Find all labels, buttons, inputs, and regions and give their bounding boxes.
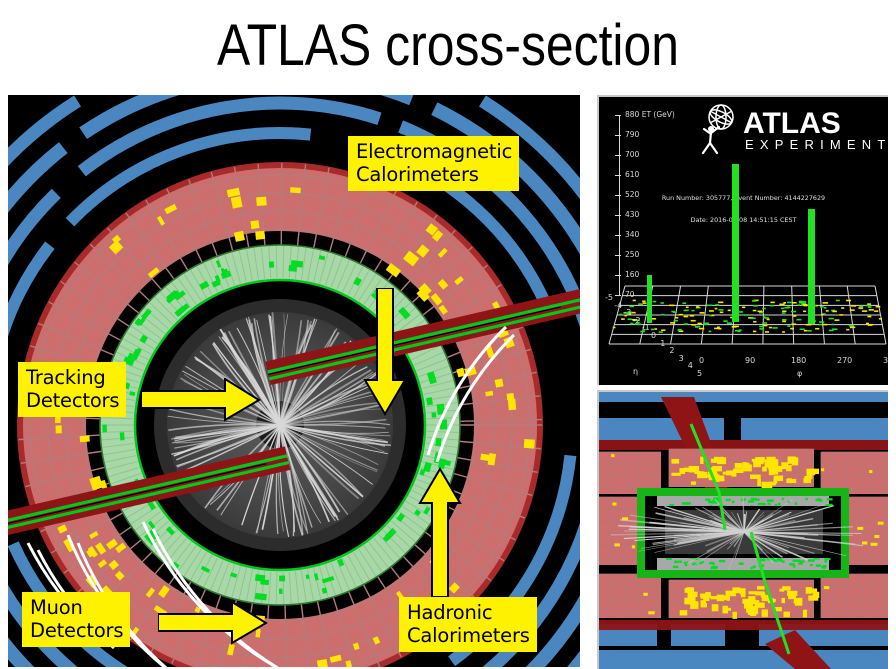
eta-axis-tick-label: 3 xyxy=(679,354,684,363)
phi-axis-tick-label: 0 xyxy=(699,356,704,365)
eta-axis-tick-label: -1 xyxy=(642,323,650,332)
eta-axis-tick-label: -2 xyxy=(633,316,641,325)
label-hadronic-calorimeters: Hadronic Calorimeters xyxy=(399,597,537,652)
phi-axis-label: φ xyxy=(797,369,802,378)
eta-axis-tick-label: 4 xyxy=(688,361,693,370)
eta-axis-label: η xyxy=(633,367,638,376)
eta-axis-tick-label: 2 xyxy=(669,346,674,355)
eta-axis-tick-label: 1 xyxy=(660,339,665,348)
arrow-down-em-calorimeter xyxy=(363,288,407,418)
eta-axis-tick-label: -5 xyxy=(605,293,613,302)
atlas-logo-wordmark: ATLAS xyxy=(743,109,841,139)
event-display-panel: ATLAS EXPERIMENT Run Number: 305777, Eve… xyxy=(597,95,888,385)
atlas-logo: ATLAS EXPERIMENT xyxy=(695,103,881,155)
et-axis-tick xyxy=(615,115,621,116)
eta-axis-tick-label: 5 xyxy=(697,369,702,378)
et-axis-tick xyxy=(615,135,621,136)
detector-side-view-graphic xyxy=(599,392,888,669)
label-electromagnetic-calorimeters: Electromagnetic Calorimeters xyxy=(348,136,519,191)
arrow-right-muon-detectors xyxy=(158,601,268,645)
page-title: ATLAS cross-section xyxy=(63,2,834,88)
eta-axis-tick-label: 0 xyxy=(651,331,656,340)
eta-axis-tick-label: -3 xyxy=(623,308,631,317)
et-axis-tick-label: 880 ET (GeV) xyxy=(625,110,675,119)
eta-axis-tick-label: -4 xyxy=(614,301,622,310)
phi-axis-tick-label: 90 xyxy=(745,356,755,365)
atlas-logo-subtitle: EXPERIMENT xyxy=(745,138,888,151)
label-muon-detectors: Muon Detectors xyxy=(22,592,130,647)
et-axis-tick-label: 790 xyxy=(625,130,639,139)
arrow-right-tracking-detectors xyxy=(141,378,261,422)
arrow-up-hadronic-calorimeters xyxy=(418,467,462,597)
et-axis-tick xyxy=(615,155,621,156)
label-tracking-detectors: Tracking Detectors xyxy=(18,362,126,417)
phi-axis-tick-label: 270 xyxy=(837,356,852,365)
atlas-cross-section-figure: ATLAS cross-section xyxy=(0,0,896,669)
phi-axis-tick-label: 180 xyxy=(791,356,806,365)
energy-tower-bars xyxy=(599,157,888,337)
longitudinal-view-panel xyxy=(597,390,888,669)
phi-axis-tick-label: 360 xyxy=(883,356,888,365)
atlas-globe-figure-icon xyxy=(695,103,745,155)
